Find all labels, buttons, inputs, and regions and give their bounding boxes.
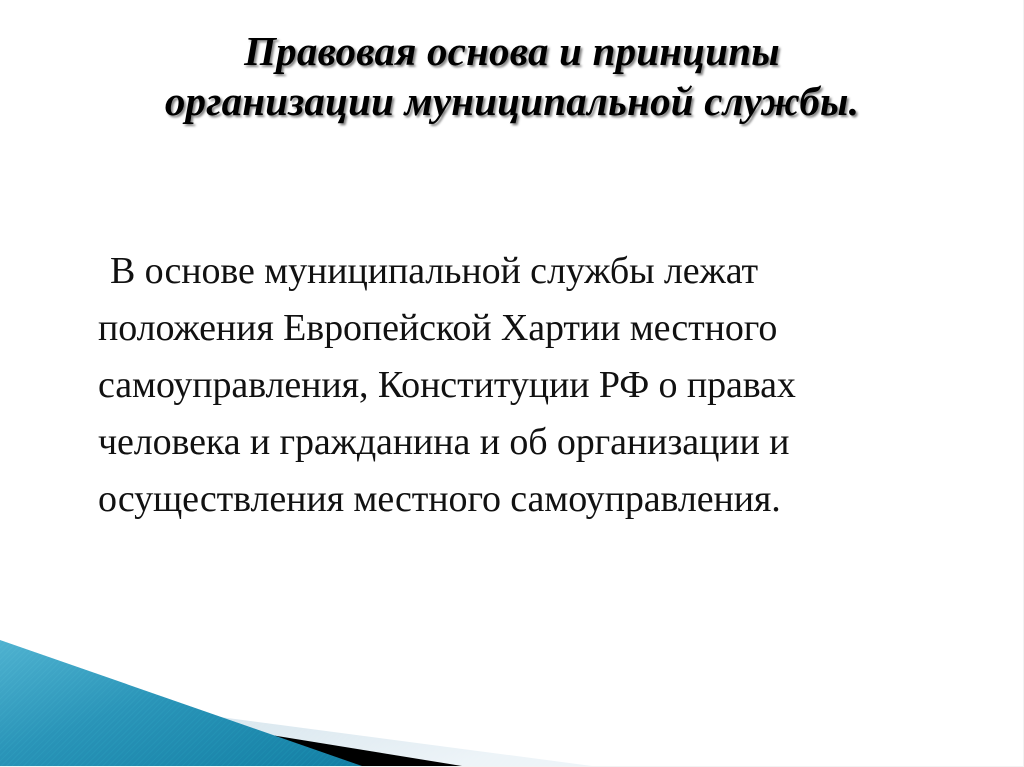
corner-ribbon-shapes — [0, 636, 700, 766]
presentation-slide: Правовая основа и принципы организации м… — [0, 0, 1024, 767]
pale-blue-wedge — [0, 688, 592, 766]
body-text-line-4: человека и гражданина и об организации и — [98, 414, 958, 471]
body-text-line-2: положения Европейской Хартии местного — [98, 300, 958, 357]
teal-triangle — [0, 640, 362, 766]
black-diagonal-stripe — [0, 691, 462, 766]
slide-title: Правовая основа и принципы организации м… — [64, 26, 960, 126]
slide-title-line-1: Правовая основа и принципы — [64, 26, 960, 76]
body-text-line-5: осуществления местного самоуправления. — [98, 471, 958, 528]
slide-title-line-2: организации муниципальной службы. — [64, 76, 960, 126]
body-text-line-1: В основе муниципальной службы лежат — [98, 243, 958, 300]
body-text-line-3: самоуправления, Конституции РФ о правах — [98, 357, 958, 414]
ribbon-texture-overlay — [0, 636, 700, 766]
corner-ribbon-decoration — [0, 636, 700, 766]
slide-body-text: В основе муниципальной службы лежат поло… — [98, 243, 958, 528]
